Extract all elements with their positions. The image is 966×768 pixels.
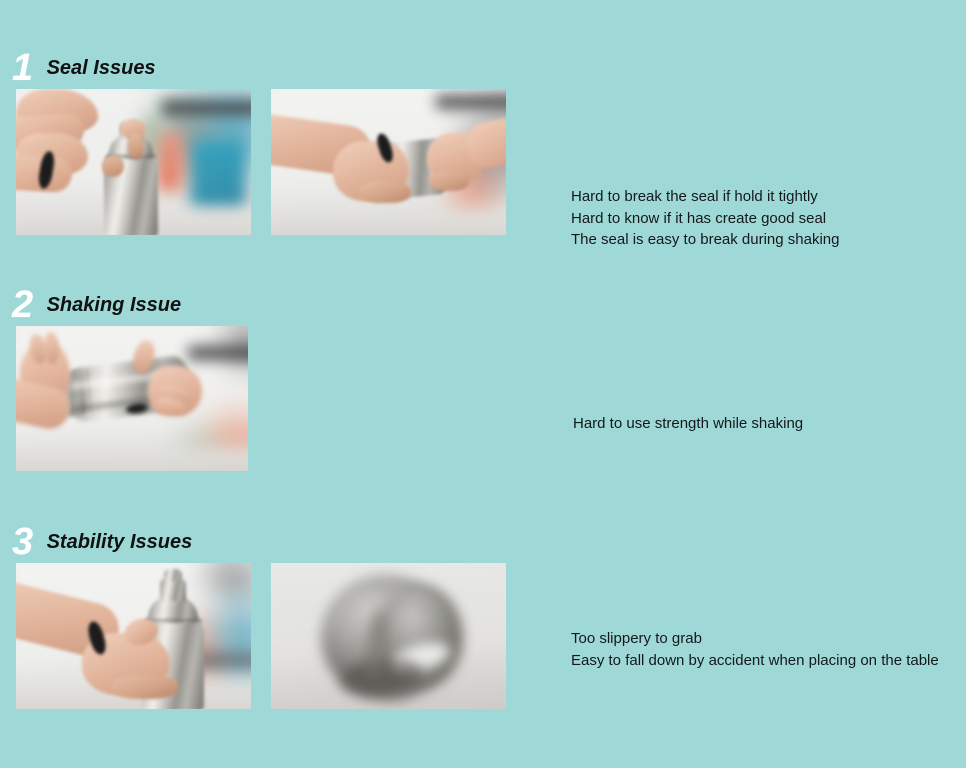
finger [128,133,144,159]
shaker-fallen-over-photo [271,563,506,709]
fingers [429,171,469,191]
orange-bottle-blur [157,133,181,191]
notes-list: Hard to break the seal if hold it tightl… [571,186,941,251]
counter-blur [271,212,506,235]
hands-sealing-shaker-photo [16,89,251,235]
note-line: Hard to use strength while shaking [573,413,943,435]
fingers [112,675,178,699]
section-header: 2 Shaking Issue [0,285,966,325]
shelf-blur [162,101,251,115]
section-header: 3 Stability Issues [0,522,966,562]
shaking-motion-blur-photo [16,326,248,471]
section-body: Hard to use strength while shaking [0,325,966,505]
section-number: 3 [12,522,32,562]
shelf-blur [436,95,507,109]
fingers [359,181,411,203]
shelf-blur [188,346,248,360]
notes-list: Hard to use strength while shaking [573,413,943,435]
note-line: Hard to break the seal if hold it tightl… [571,186,941,208]
hand-grabbing-shaker-photo [16,563,251,709]
shaker-cap-top [164,569,182,581]
section-title: Seal Issues [47,48,156,88]
note-line: Easy to fall down by accident when placi… [571,650,941,672]
section-stability-issues: 3 Stability Issues [0,522,966,742]
blue-appliance-blur [190,139,246,209]
counter-blur [16,448,248,471]
note-line: The seal is easy to break during shaking [571,229,941,251]
section-seal-issues: 1 Seal Issues [0,48,966,268]
section-body: Hard to break the seal if hold it tightl… [0,88,966,268]
section-header: 1 Seal Issues [0,48,966,88]
section-title: Stability Issues [47,522,193,562]
note-line: Too slippery to grab [571,628,941,650]
section-body: Too slippery to grab Easy to fall down b… [0,562,966,742]
thumb [102,155,124,177]
section-number: 2 [12,285,32,325]
hands-breaking-seal-photo [271,89,506,235]
section-number: 1 [12,48,32,88]
section-title: Shaking Issue [47,285,182,325]
issues-board: 1 Seal Issues [0,0,966,768]
note-line: Hard to know if it has create good seal [571,208,941,230]
notes-list: Too slippery to grab Easy to fall down b… [571,628,941,671]
section-shaking-issue: 2 Shaking Issue [0,285,966,505]
